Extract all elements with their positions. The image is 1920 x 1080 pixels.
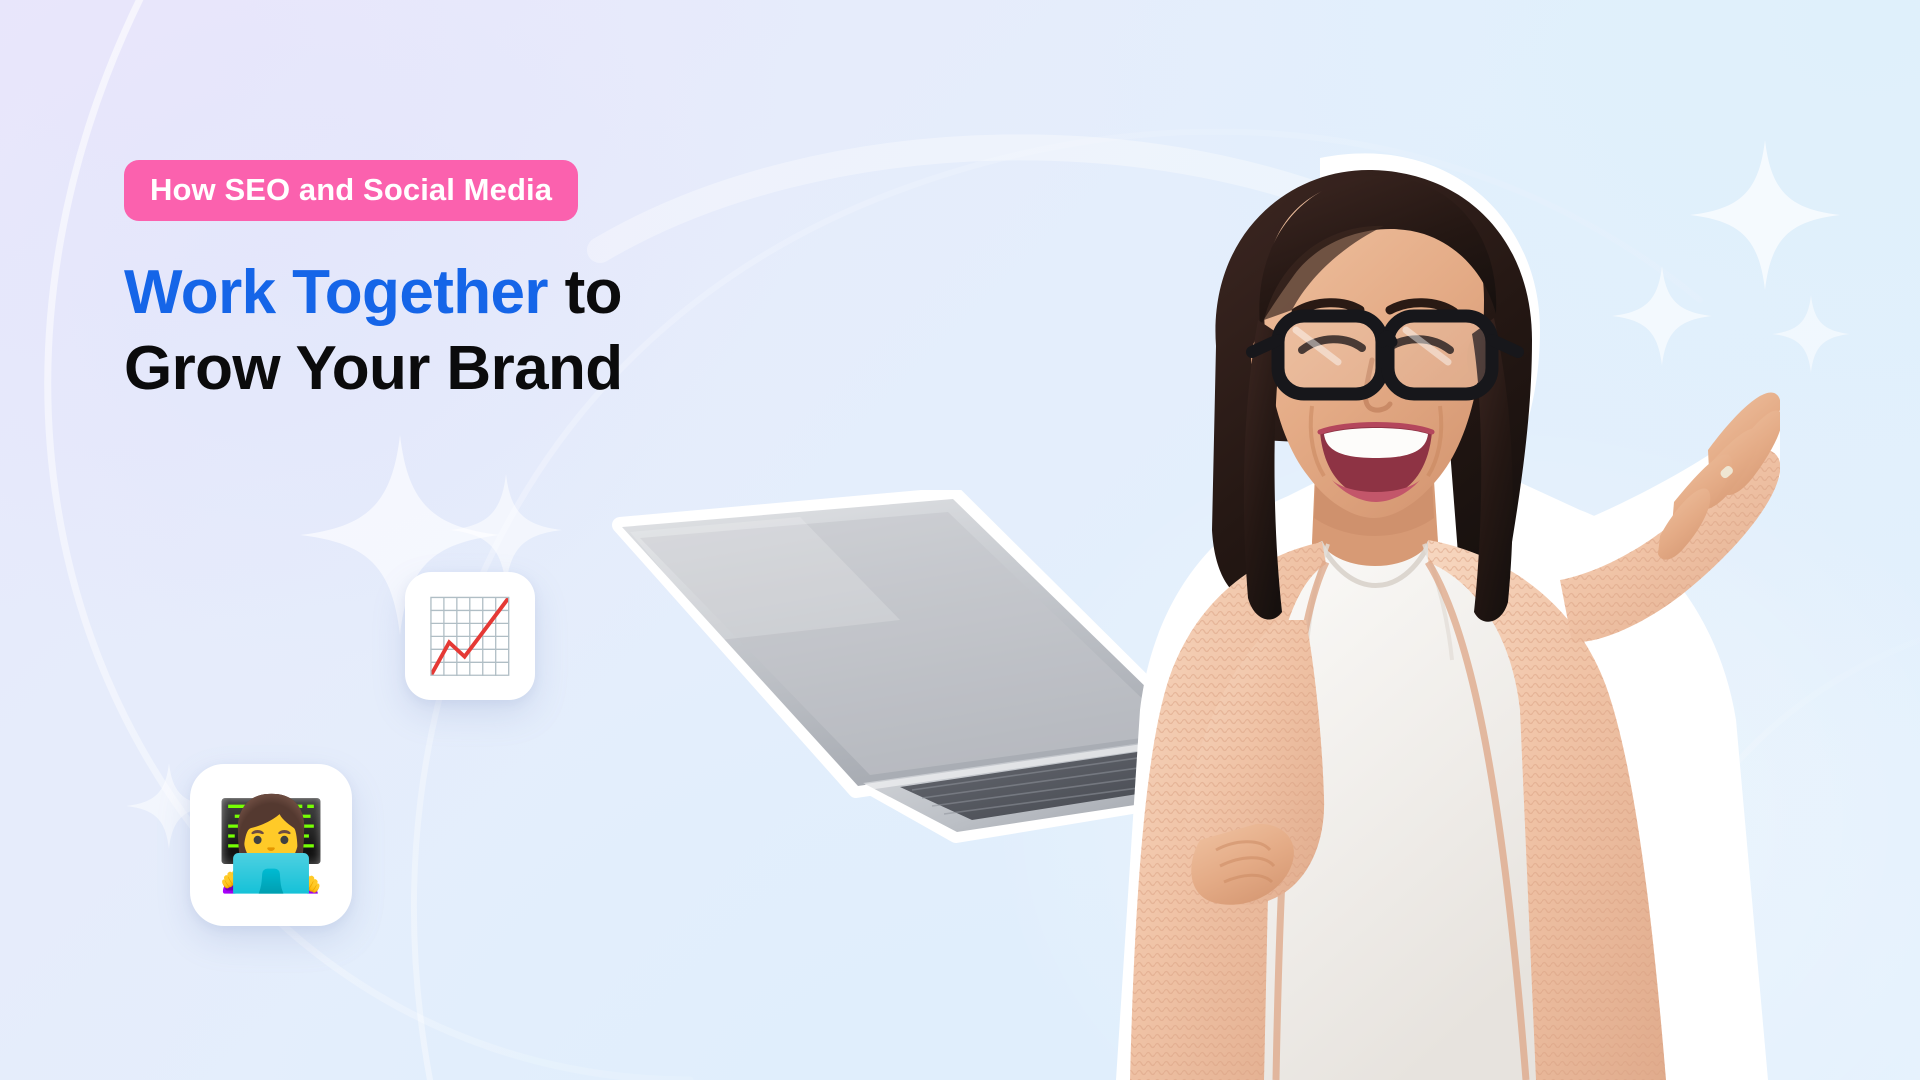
woman-technologist-card: 👩‍💻 [190, 764, 352, 926]
hero-text-column: How SEO and Social Media Work Together t… [124, 160, 884, 406]
hero-banner: How SEO and Social Media Work Together t… [0, 0, 1920, 1080]
eyebrow-badge: How SEO and Social Media [124, 160, 578, 221]
headline-highlight: Work Together [124, 258, 548, 327]
headline-line-1: Work Together to [124, 255, 884, 331]
page-title: Work Together to Grow Your Brand [124, 255, 884, 406]
chart-increasing-icon: 📈 [425, 600, 515, 672]
woman-technologist-icon: 👩‍💻 [215, 800, 327, 890]
person-photo [1020, 150, 1780, 1080]
headline-line-1-rest: to [548, 258, 622, 327]
chart-increasing-card: 📈 [405, 572, 535, 700]
headline-line-2: Grow Your Brand [124, 331, 884, 407]
glasses-icon [1252, 316, 1518, 394]
